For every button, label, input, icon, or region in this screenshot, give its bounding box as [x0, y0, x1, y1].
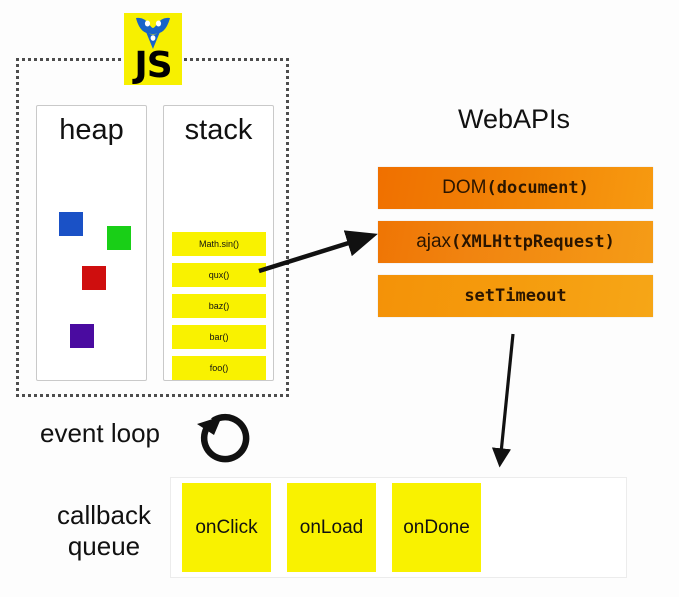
webapi-dom-code: (document)	[486, 178, 588, 198]
callback-queue-label-line2: queue	[44, 531, 164, 562]
stack-panel: stack Math.sin() qux() baz() bar() foo()	[163, 105, 274, 381]
callback-queue-label-line1: callback	[44, 500, 164, 531]
webapis-title: WebAPIs	[372, 104, 656, 135]
heap-panel: heap	[36, 105, 147, 381]
js-logo: JS	[124, 13, 182, 85]
heap-object-red	[82, 266, 106, 290]
webapi-dom: DOM (document)	[378, 167, 653, 209]
callback-queue-label: callback queue	[44, 500, 164, 562]
stack-frame: Math.sin()	[172, 232, 266, 256]
callback-queue-item: onLoad	[287, 483, 376, 572]
circular-arrow-icon	[197, 416, 246, 459]
webapi-settimeout: setTimeout	[378, 275, 653, 317]
heap-object-blue	[59, 212, 83, 236]
heap-object-green	[107, 226, 131, 250]
diagram-canvas: JS heap stack Math.sin() qux() baz() bar…	[0, 0, 679, 597]
stack-frame: foo()	[172, 356, 266, 380]
stack-title: stack	[164, 114, 273, 147]
stack-frame: baz()	[172, 294, 266, 318]
js-logo-text: JS	[134, 48, 171, 84]
stack-frame: qux()	[172, 263, 266, 287]
webapi-ajax-code: (XMLHttpRequest)	[451, 232, 615, 252]
stack-frame: bar()	[172, 325, 266, 349]
callback-queue-item: onDone	[392, 483, 481, 572]
callback-queue-item: onClick	[182, 483, 271, 572]
webapi-ajax-label: ajax	[416, 231, 451, 253]
arrow-webapis-to-callback-queue	[500, 334, 513, 463]
heap-title: heap	[37, 114, 146, 147]
event-loop-label: event loop	[40, 418, 160, 449]
heap-object-purple	[70, 324, 94, 348]
webapi-ajax: ajax (XMLHttpRequest)	[378, 221, 653, 263]
webapi-dom-label: DOM	[442, 177, 486, 199]
webapi-settimeout-code: setTimeout	[464, 286, 566, 306]
